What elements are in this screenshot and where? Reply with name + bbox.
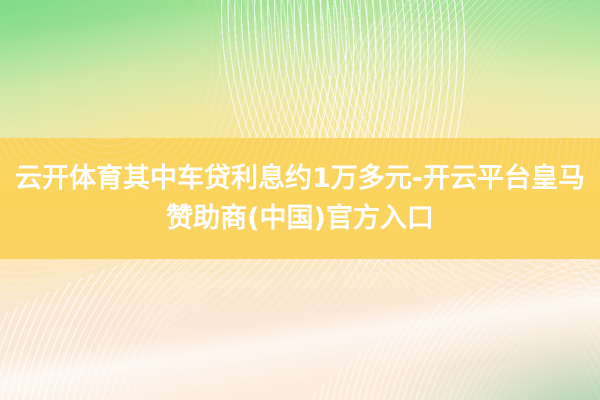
banner-card: 云开体育其中车贷利息约1万多元-开云平台皇马赞助商(中国)官方入口 [0, 0, 600, 400]
title-band: 云开体育其中车贷利息约1万多元-开云平台皇马赞助商(中国)官方入口 [0, 138, 600, 259]
page-title: 云开体育其中车贷利息约1万多元-开云平台皇马赞助商(中国)官方入口 [0, 159, 600, 239]
